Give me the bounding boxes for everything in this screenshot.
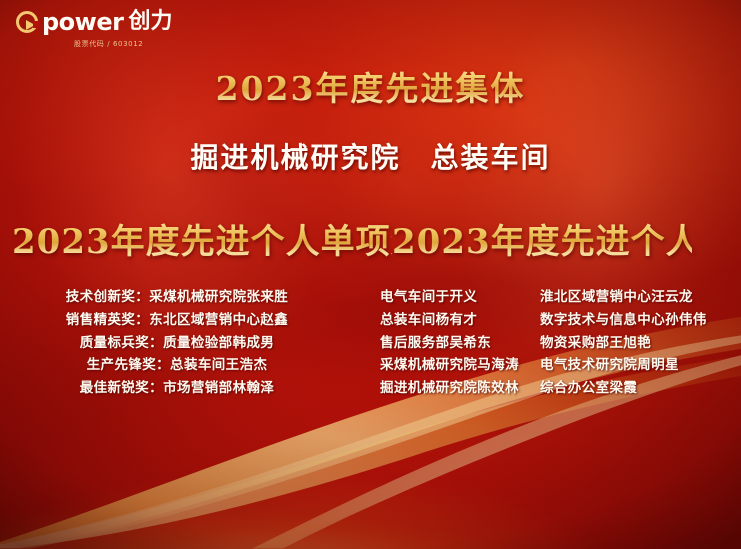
list-item: 总装车间杨有才 数字技术与信息中心孙伟伟: [380, 309, 716, 332]
individual-award-list: 电气车间于开义 淮北区域营销中心汪云龙 总装车间杨有才 数字技术与信息中心孙伟伟…: [380, 286, 716, 400]
special-award-list: 技术创新奖：采煤机械研究院张来胜 销售精英奖：东北区域营销中心赵鑫 质量标兵奖：…: [52, 286, 302, 400]
individual-award-title: 2023年度先进个人: [392, 214, 692, 263]
brand-logo: power 创力 股票代码 / 603012: [16, 10, 172, 49]
power-circle-icon: [16, 11, 38, 33]
bottom-glow: [0, 417, 741, 549]
individual-name-left: 总装车间杨有才: [380, 309, 540, 332]
list-item: 掘进机械研究院陈效林 综合办公室梁霞: [380, 377, 716, 400]
award-poster: power 创力 股票代码 / 603012 2023年度先进集体 掘进机械研究…: [0, 0, 741, 549]
individual-name-left: 掘进机械研究院陈效林: [380, 377, 540, 400]
list-item: 采煤机械研究院马海涛 电气技术研究院周明星: [380, 354, 716, 377]
brand-name-cn: 创力: [128, 11, 172, 33]
individual-name-right: 淮北区域营销中心汪云龙: [540, 286, 716, 309]
stock-code: 股票代码 / 603012: [74, 39, 143, 49]
list-item: 最佳新锐奖：市场营销部林翰泽: [80, 377, 275, 400]
list-item: 电气车间于开义 淮北区域营销中心汪云龙: [380, 286, 716, 309]
list-item: 技术创新奖：采煤机械研究院张来胜: [66, 286, 288, 309]
individual-name-left: 电气车间于开义: [380, 286, 540, 309]
list-item: 质量标兵奖：质量检验部韩成男: [80, 332, 275, 355]
logo-row: power 创力: [16, 10, 172, 34]
list-item: 售后服务部吴希东 物资采购部王旭艳: [380, 332, 716, 355]
collective-award-title: 2023年度先进集体: [0, 62, 741, 110]
individual-name-left: 采煤机械研究院马海涛: [380, 354, 540, 377]
individual-name-right: 物资采购部王旭艳: [540, 332, 716, 355]
collective-winners: 掘进机械研究院 总装车间: [0, 136, 741, 176]
individual-name-left: 售后服务部吴希东: [380, 332, 540, 355]
special-award-title: 2023年度先进个人单项奖: [12, 214, 392, 263]
brand-name-en: power: [42, 10, 123, 34]
list-item: 销售精英奖：东北区域营销中心赵鑫: [66, 309, 288, 332]
individual-name-right: 电气技术研究院周明星: [540, 354, 716, 377]
individual-name-right: 数字技术与信息中心孙伟伟: [540, 309, 716, 332]
individual-name-right: 综合办公室梁霞: [540, 377, 716, 400]
list-item: 生产先锋奖：总装车间王浩杰: [87, 354, 268, 377]
